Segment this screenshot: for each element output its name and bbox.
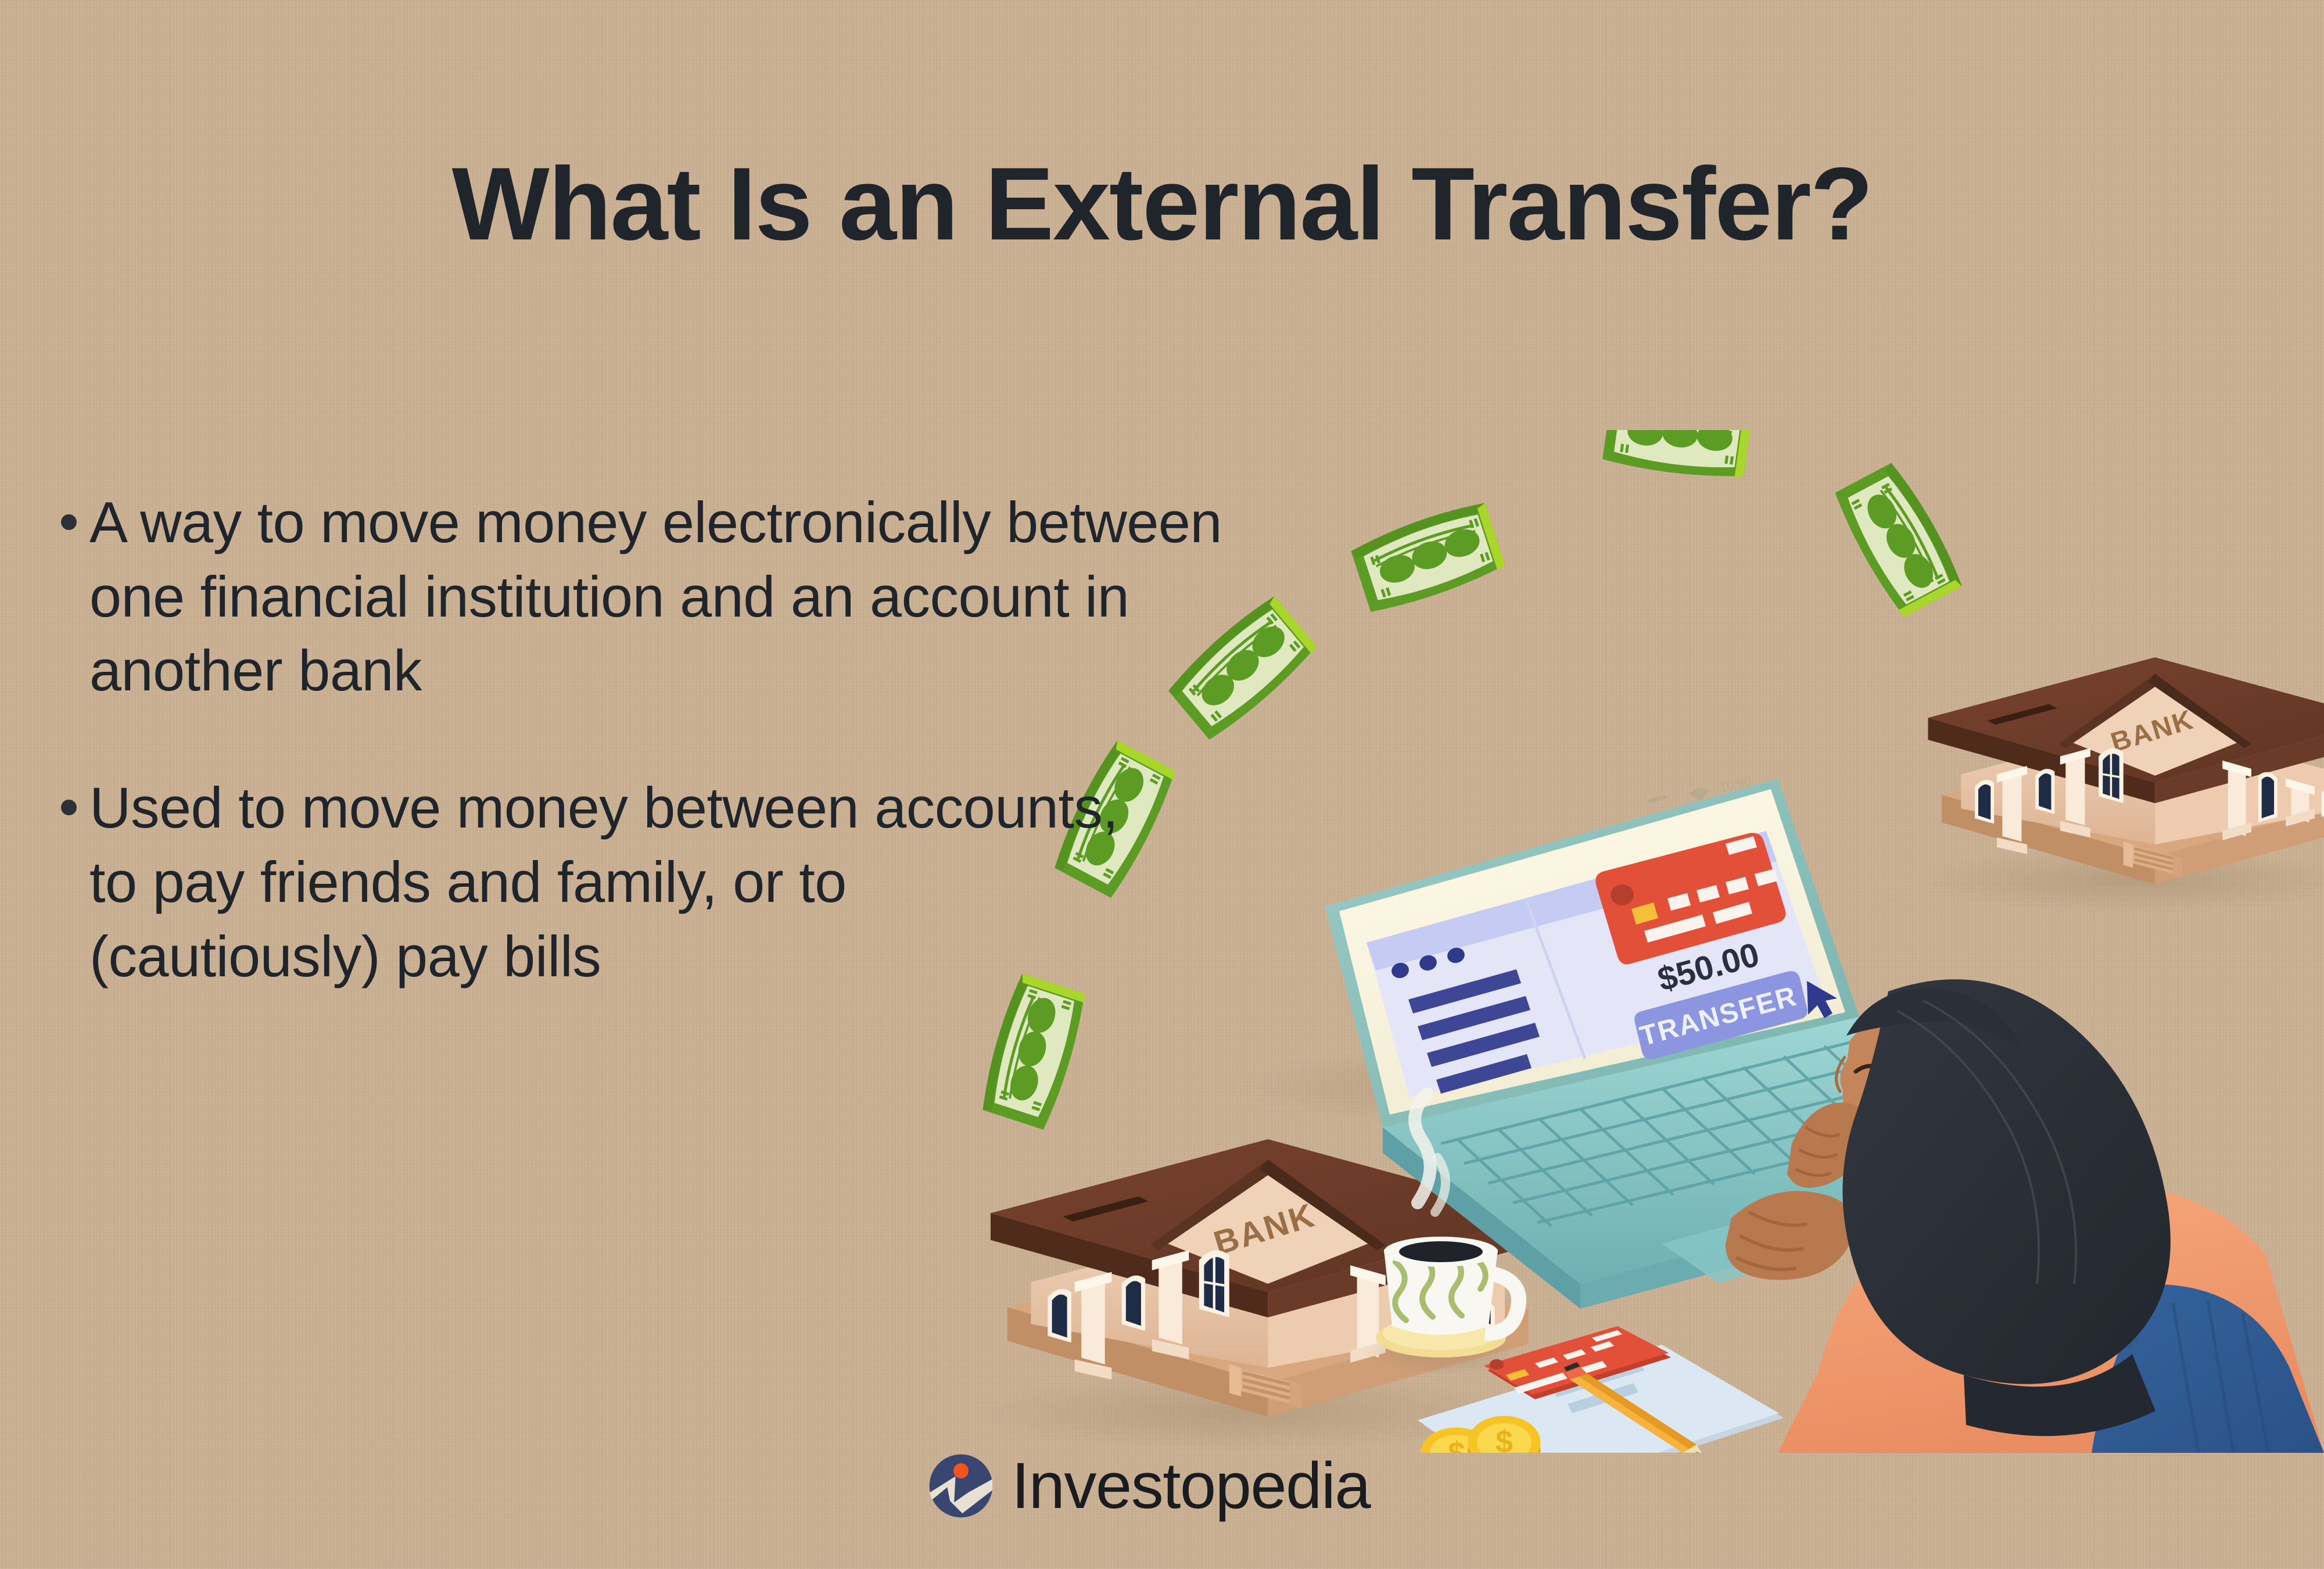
page-title: What Is an External Transfer? [0, 152, 2324, 256]
bullet-dot-icon [61, 514, 77, 530]
bullet-text: A way to move money electronically betwe… [89, 485, 1292, 708]
investopedia-logo: Investopedia [927, 1452, 1370, 1520]
investopedia-mark-icon [927, 1452, 995, 1520]
bullet-text: Used to move money between accounts, to … [89, 771, 1135, 993]
list-item: A way to move money electronically betwe… [61, 485, 1310, 708]
infographic-canvas: BANK [0, 0, 2324, 1569]
investopedia-wordmark: Investopedia [1012, 1453, 1370, 1518]
list-item: Used to move money between accounts, to … [61, 771, 1310, 993]
bullet-dot-icon [61, 800, 77, 815]
bullet-list: A way to move money electronically betwe… [61, 485, 1310, 1056]
bank-building-right [1907, 657, 2324, 914]
